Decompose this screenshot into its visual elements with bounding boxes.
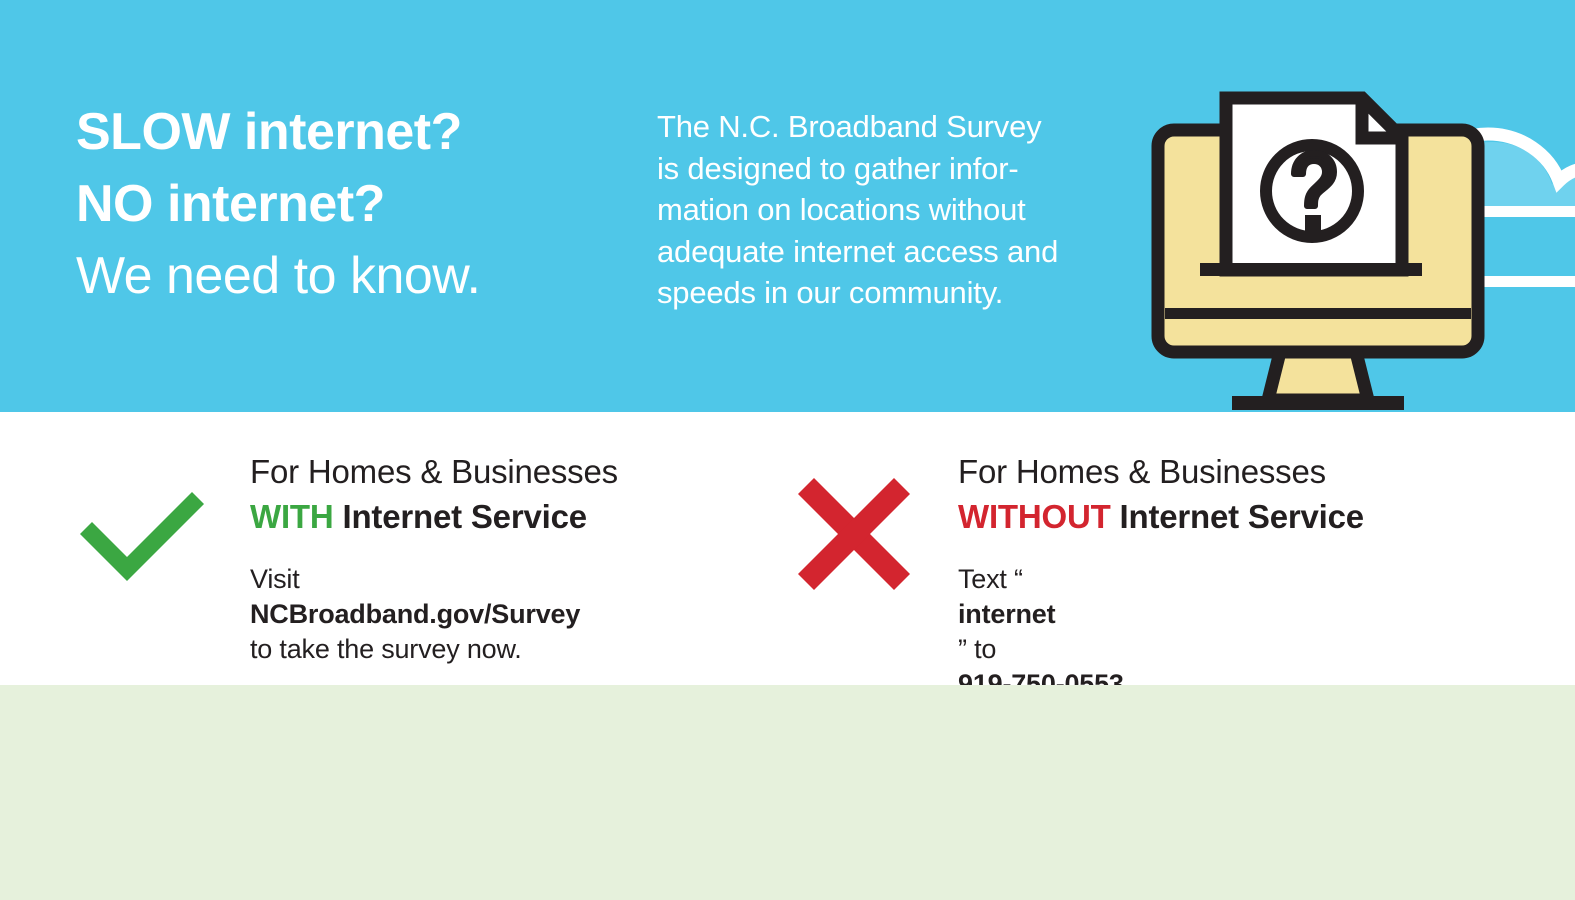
hero-description-line-4: adequate internet access and — [657, 231, 1157, 273]
broadband-survey-poster: SLOW internet? NO internet? We need to k… — [0, 0, 1575, 900]
headline-line-3: We need to know. — [76, 240, 636, 312]
cta-with-subtext-line2: to take the survey now. — [250, 632, 618, 667]
hero-description: The N.C. Broadband Survey is designed to… — [657, 106, 1157, 314]
cta-with-subtext-line1: Visit NCBroadband.gov/Survey — [250, 562, 618, 632]
check-icon — [72, 470, 212, 600]
cta-with-visit-label: Visit — [250, 562, 618, 597]
hero-section: SLOW internet? NO internet? We need to k… — [0, 0, 1575, 412]
x-icon — [784, 470, 924, 600]
footer-section: Your feedback directly impacts grant and… — [0, 685, 1575, 900]
headline-line-2: NO internet? — [76, 168, 636, 240]
cta-without-heading-rest: Internet Service — [1111, 498, 1364, 535]
cta-without-heading-line2: WITHOUT Internet Service — [958, 494, 1439, 540]
cta-section: For Homes & Businesses WITH Internet Ser… — [0, 412, 1575, 685]
cta-without-internet-service: For Homes & Businesses WITHOUT Internet … — [768, 412, 1528, 685]
text-keyword-prefix: Text “ — [958, 562, 1439, 597]
cta-with-heading-line1: For Homes & Businesses — [250, 450, 618, 494]
cta-with-heading-line2: WITH Internet Service — [250, 494, 618, 540]
cta-with-internet-service: For Homes & Businesses WITH Internet Ser… — [60, 412, 760, 685]
hero-description-line-3: mation on locations without — [657, 189, 1157, 231]
cta-without-heading-line1: For Homes & Businesses — [958, 450, 1439, 494]
survey-url-link[interactable]: NCBroadband.gov/Survey — [250, 599, 580, 629]
sms-keyword: internet — [958, 599, 1055, 629]
text-keyword-mid: ” to — [958, 632, 1439, 667]
cta-without-keyword: WITHOUT — [958, 498, 1111, 535]
computer-survey-illustration — [1140, 60, 1575, 412]
hero-description-line-5: speeds in our community. — [657, 272, 1157, 314]
cta-with-keyword: WITH — [250, 498, 334, 535]
hero-description-line-1: The N.C. Broadband Survey — [657, 106, 1157, 148]
page-title: SLOW internet? NO internet? We need to k… — [76, 96, 636, 312]
cta-with-subtext: Visit NCBroadband.gov/Survey to take the… — [250, 562, 618, 667]
hero-description-line-2: is designed to gather infor- — [657, 148, 1157, 190]
cta-with-heading-rest: Internet Service — [334, 498, 587, 535]
cta-with-body: For Homes & Businesses WITH Internet Ser… — [250, 450, 618, 667]
headline-line-1: SLOW internet? — [76, 96, 636, 168]
